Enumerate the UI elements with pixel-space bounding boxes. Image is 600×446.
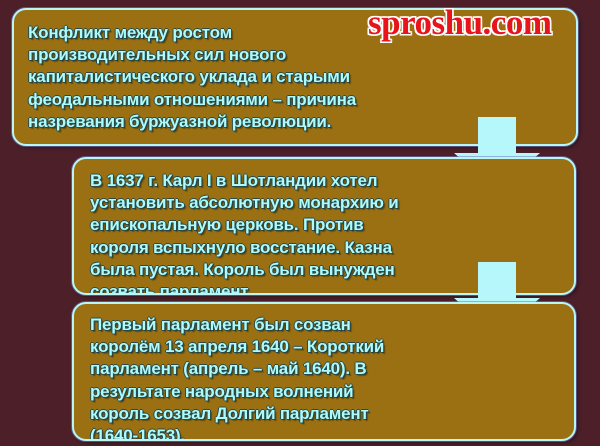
text-box-conflict-text: Конфликт между ростом производительных с… bbox=[14, 10, 576, 133]
diagram-canvas: Конфликт между ростом производительных с… bbox=[0, 0, 600, 446]
text-box-first-parliament-text: Первый парламент был созван королём 13 а… bbox=[74, 304, 574, 441]
text-box-first-parliament: Первый парламент был созван королём 13 а… bbox=[72, 302, 576, 441]
